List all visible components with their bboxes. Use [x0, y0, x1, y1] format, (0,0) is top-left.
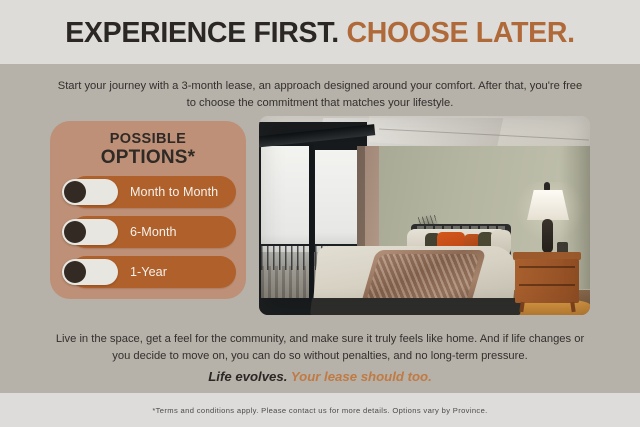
tagline-accent: Your lease should too.: [291, 369, 432, 384]
footer-disclaimer: *Terms and conditions apply. Please cont…: [152, 406, 487, 415]
option-row-1-year[interactable]: 1-Year: [70, 256, 236, 288]
toggle-knob-icon: [64, 181, 86, 203]
photo-vignette: [259, 116, 590, 315]
options-title-line-2: OPTIONS*: [60, 148, 236, 167]
toggle-knob-icon: [64, 221, 86, 243]
possible-options-card: POSSIBLE OPTIONS* Month to Month 6-Month…: [50, 121, 246, 299]
intro-paragraph: Start your journey with a 3-month lease,…: [55, 78, 585, 112]
toggle-knob-icon: [64, 261, 86, 283]
option-label: 1-Year: [130, 265, 167, 279]
toggle-switch-month-to-month[interactable]: [62, 179, 118, 205]
headline-primary: EXPERIENCE FIRST.: [65, 17, 339, 49]
promo-poster: EXPERIENCE FIRST. CHOOSE LATER. Start yo…: [0, 0, 640, 427]
header-band: EXPERIENCE FIRST. CHOOSE LATER.: [0, 0, 640, 64]
tagline: Life evolves. Your lease should too.: [50, 369, 590, 384]
bedroom-photo: [259, 116, 590, 315]
tagline-primary: Life evolves.: [208, 369, 287, 384]
toggle-switch-6-month[interactable]: [62, 219, 118, 245]
footer-band: *Terms and conditions apply. Please cont…: [0, 393, 640, 427]
headline-accent: CHOOSE LATER.: [346, 17, 574, 49]
options-title-line-1: POSSIBLE: [60, 132, 236, 147]
page-title: EXPERIENCE FIRST. CHOOSE LATER.: [65, 19, 575, 48]
option-label: Month to Month: [130, 185, 218, 199]
toggle-switch-1-year[interactable]: [62, 259, 118, 285]
lower-paragraph: Live in the space, get a feel for the co…: [50, 331, 590, 366]
option-row-6-month[interactable]: 6-Month: [70, 216, 236, 248]
option-row-month-to-month[interactable]: Month to Month: [70, 176, 236, 208]
options-card-title: POSSIBLE OPTIONS*: [60, 132, 236, 167]
option-label: 6-Month: [130, 225, 177, 239]
